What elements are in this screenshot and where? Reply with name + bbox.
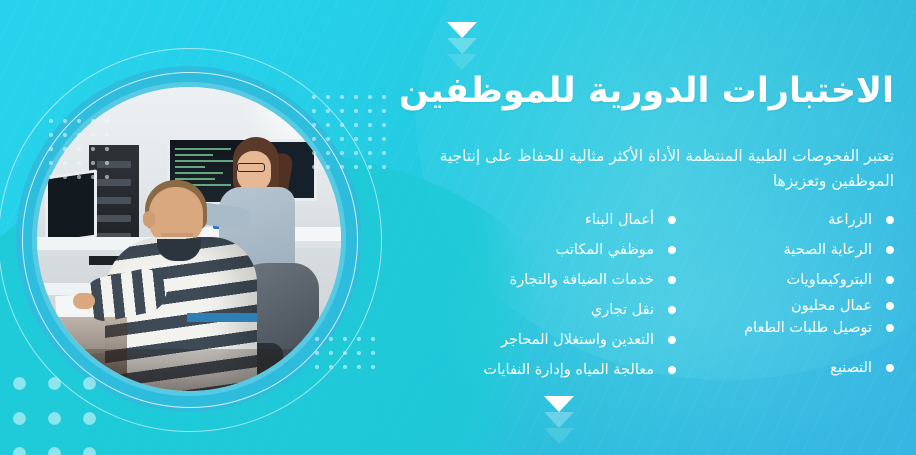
industry-list-right: الزراعة الرعاية الصحية البتروكيماويات عم…: [684, 205, 894, 383]
industry-list-middle: أعمال البناء موظفي المكاتب خدمات الضيافة…: [426, 205, 676, 385]
bullet-icon: [668, 306, 676, 314]
list-item: التصنيع: [684, 353, 894, 383]
list-item-label: توصيل طلبات الطعام: [744, 321, 872, 336]
bullet-icon: [886, 246, 894, 254]
list-item: عمال محليون: [684, 295, 894, 317]
list-item-label: الزراعة: [828, 213, 872, 228]
bullet-icon: [668, 336, 676, 344]
bullet-icon: [886, 302, 894, 310]
woman-glasses: [237, 163, 265, 172]
list-item-label: عمال محليون: [791, 299, 872, 314]
triangle-down-icon-bottom: [544, 396, 578, 455]
list-item-label: خدمات الضيافة والتجارة: [510, 273, 654, 288]
bullet-icon: [886, 276, 894, 284]
banner-title: الاختبارات الدورية للموظفين: [334, 71, 894, 112]
bullet-icon: [886, 324, 894, 332]
list-item: التعدين واستغلال المحاجر: [426, 325, 676, 355]
bullet-icon: [668, 246, 676, 254]
bullet-icon: [886, 216, 894, 224]
list-item-label: الرعاية الصحية: [784, 243, 872, 258]
bullet-icon: [668, 366, 676, 374]
bullet-icon: [668, 216, 676, 224]
list-item-label: التعدين واستغلال المحاجر: [501, 333, 654, 348]
list-item: خدمات الضيافة والتجارة: [426, 265, 676, 295]
bullet-icon: [668, 276, 676, 284]
banner-subtitle: تعتبر الفحوصات الطبية المنتظمة الأداة ال…: [394, 144, 894, 194]
list-item-label: نقل تجاري: [591, 303, 654, 318]
list-item-label: أعمال البناء: [585, 213, 654, 228]
list-item: أعمال البناء: [426, 205, 676, 235]
bullet-icon: [886, 364, 894, 372]
list-item-label: موظفي المكاتب: [556, 243, 654, 258]
list-item: الزراعة: [684, 205, 894, 235]
industry-lists: الزراعة الرعاية الصحية البتروكيماويات عم…: [0, 205, 916, 395]
list-item-label: معالجة المياه وإدارة النفايات: [483, 363, 654, 378]
list-item: الرعاية الصحية: [684, 235, 894, 265]
list-item-label: التصنيع: [830, 361, 872, 376]
list-item: توصيل طلبات الطعام: [684, 317, 894, 339]
list-item-label: البتروكيماويات: [787, 273, 872, 288]
list-item: موظفي المكاتب: [426, 235, 676, 265]
list-item: نقل تجاري: [426, 295, 676, 325]
list-item: معالجة المياه وإدارة النفايات: [426, 355, 676, 385]
promotional-banner: الاختبارات الدورية للموظفين تعتبر الفحوص…: [0, 0, 916, 455]
list-item: البتروكيماويات: [684, 265, 894, 295]
